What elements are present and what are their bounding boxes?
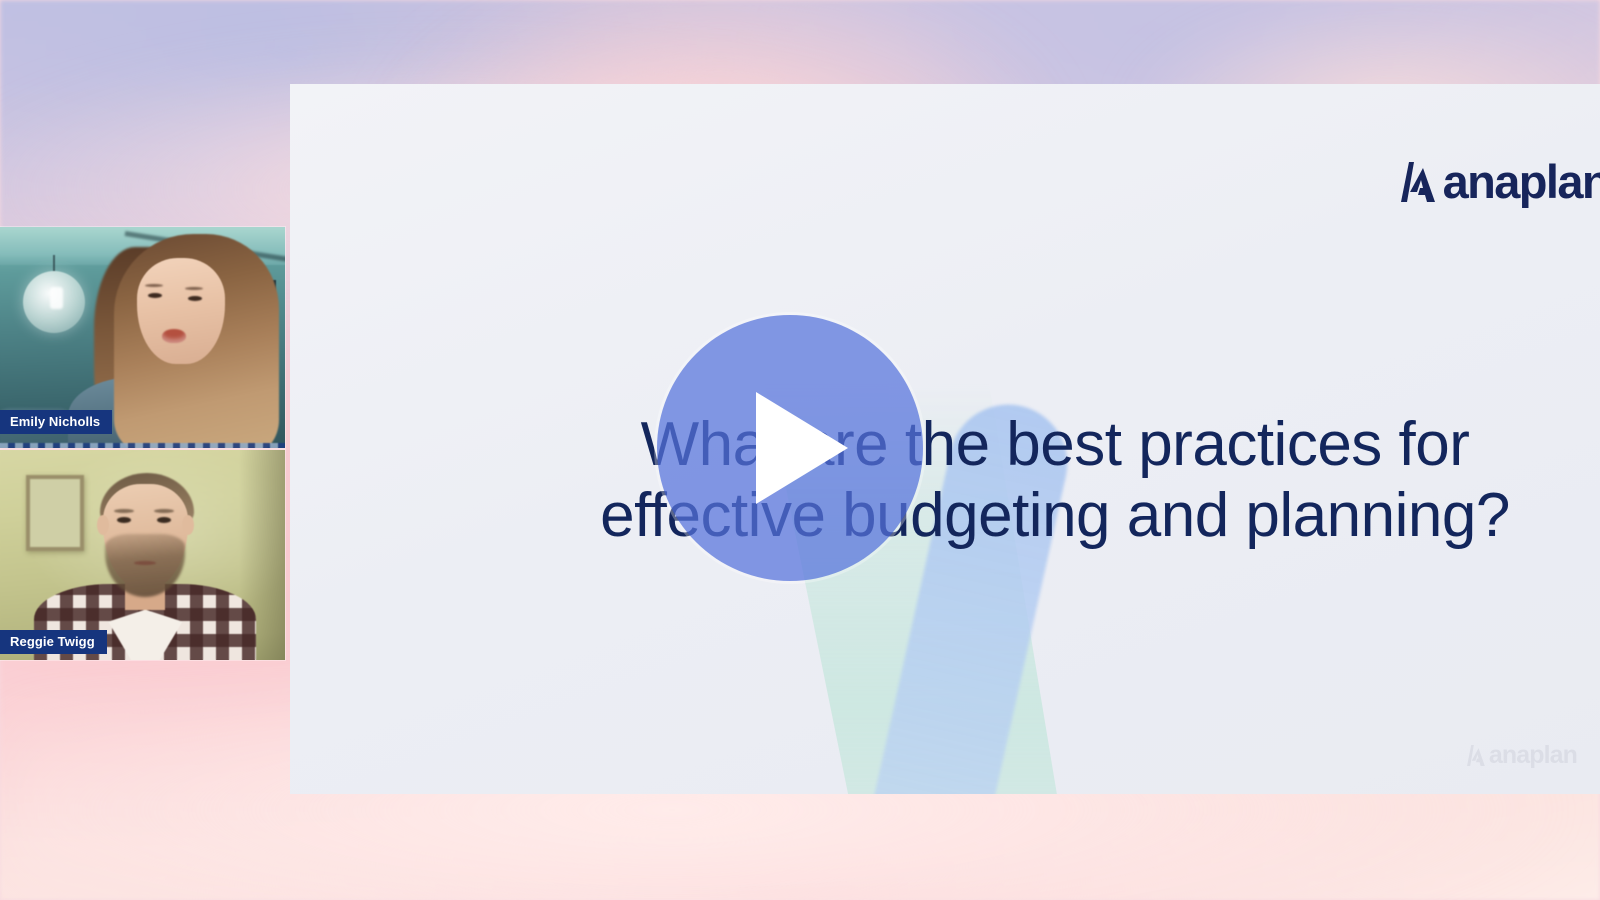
video-player-screen: What are the best practices for effectiv…	[0, 0, 1600, 900]
anaplan-logo: anaplan	[1401, 158, 1600, 205]
person-ear	[97, 515, 109, 535]
person-eye	[188, 296, 202, 301]
participant-name-badge: Emily Nicholls	[0, 410, 112, 434]
play-triangle-icon	[756, 392, 848, 504]
person-eyebrow	[185, 287, 203, 290]
wall-picture-frame	[26, 475, 84, 551]
video-strip-artifact	[0, 443, 285, 448]
anaplan-slash-a-icon	[1401, 160, 1441, 204]
person-eyebrow	[114, 509, 134, 513]
play-button[interactable]	[657, 315, 923, 581]
participant-video-feed	[0, 450, 285, 660]
anaplan-watermark-slash-a-icon	[1467, 744, 1488, 767]
person-eyebrow	[154, 509, 174, 513]
video-slide-frame[interactable]: What are the best practices for effectiv…	[290, 84, 1600, 794]
participant-name-badge: Reggie Twigg	[0, 630, 107, 654]
anaplan-watermark: anaplan	[1467, 743, 1577, 768]
person-mouth	[162, 329, 186, 343]
participant-video-tile[interactable]: Reggie Twigg	[0, 450, 285, 660]
anaplan-watermark-text: anaplan	[1489, 743, 1577, 768]
pendant-lamp-icon	[23, 271, 85, 333]
participant-video-tile[interactable]: Emily Nicholls	[0, 227, 285, 448]
person-face	[137, 258, 225, 364]
anaplan-logo-text: anaplan	[1443, 158, 1600, 205]
